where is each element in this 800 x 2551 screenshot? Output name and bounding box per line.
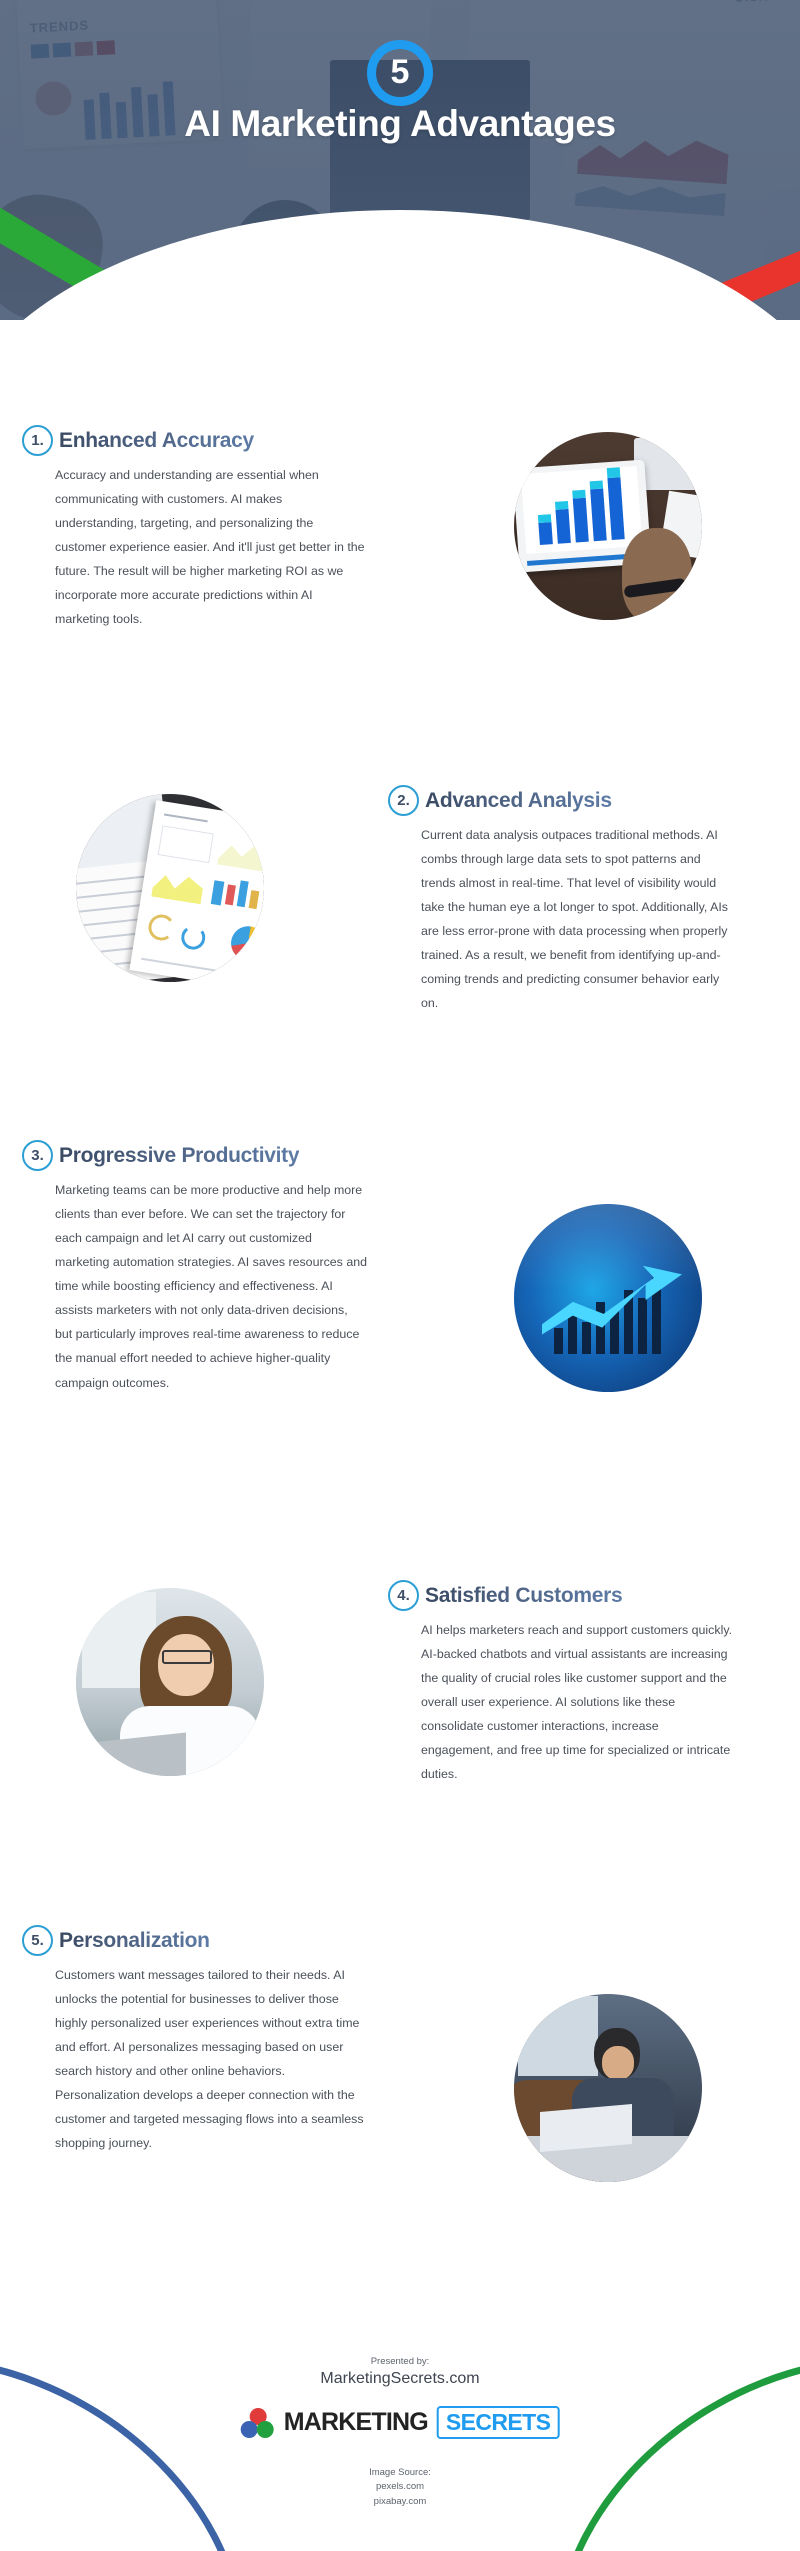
footer-website[interactable]: MarketingSecrets.com <box>0 2370 800 2388</box>
section-3-circle-frame <box>500 1190 716 1406</box>
section-2-number: 2. <box>388 785 419 816</box>
section-3-image <box>500 1190 800 1406</box>
section-4-heading: 4. Satisfied Customers <box>388 1580 733 1611</box>
photo-advanced-analysis <box>76 794 264 982</box>
section-3-title: Progressive Productivity <box>59 1144 299 1168</box>
section-3-text: 3. Progressive Productivity Marketing te… <box>22 1140 367 1395</box>
section-5-circle-frame <box>500 1980 716 2196</box>
footer-image-source-pixabay[interactable]: pixabay.com <box>0 2495 800 2509</box>
section-4-text: 4. Satisfied Customers AI helps marketer… <box>388 1580 733 1786</box>
photo-enhanced-accuracy <box>514 432 702 620</box>
section-5-text: 5. Personalization Customers want messag… <box>22 1925 367 2156</box>
logo-word-marketing: MARKETING <box>284 2408 428 2437</box>
section-5-heading: 5. Personalization <box>22 1925 367 1956</box>
section-4-number: 4. <box>388 1580 419 1611</box>
section-4-image <box>62 1574 362 1790</box>
photo-progressive-productivity <box>514 1204 702 1392</box>
logo-word-secrets: SECRETS <box>437 2406 559 2439</box>
header-banner: TRENDS ANALYSIS 5 <box>0 0 800 320</box>
section-3: 3. Progressive Productivity Marketing te… <box>0 1140 800 1500</box>
section-4-body: AI helps marketers reach and support cus… <box>421 1618 733 1786</box>
section-1-heading: 1. Enhanced Accuracy <box>22 425 367 456</box>
photo-satisfied-customers <box>76 1588 264 1776</box>
footer-image-source-pexels[interactable]: pexels.com <box>0 2480 800 2494</box>
logo-dots-icon <box>241 2408 275 2438</box>
section-5-number: 5. <box>22 1925 53 1956</box>
header-number-badge-value: 5 <box>391 55 410 89</box>
section-5-body: Customers want messages tailored to thei… <box>55 1963 367 2156</box>
section-2-image <box>62 780 362 996</box>
section-2-text: 2. Advanced Analysis Current data analys… <box>388 785 733 1016</box>
section-4: 4. Satisfied Customers AI helps marketer… <box>0 1580 800 1880</box>
footer-presented-by-label: Presented by: <box>0 2356 800 2367</box>
logo-dot-green-icon <box>257 2421 274 2438</box>
section-1-body: Accuracy and understanding are essential… <box>55 463 367 631</box>
section-1-title: Enhanced Accuracy <box>59 429 254 453</box>
section-1-number: 1. <box>22 425 53 456</box>
section-4-title: Satisfied Customers <box>425 1584 622 1608</box>
logo-dot-blue-icon <box>241 2421 258 2438</box>
section-3-number: 3. <box>22 1140 53 1171</box>
section-3-body: Marketing teams can be more productive a… <box>55 1178 367 1395</box>
section-2: 2. Advanced Analysis Current data analys… <box>0 785 800 1130</box>
footer: Presented by: MarketingSecrets.com MARKE… <box>0 2350 800 2551</box>
section-5-title: Personalization <box>59 1929 210 1953</box>
footer-image-source: Image Source: pexels.com pixabay.com <box>0 2466 800 2509</box>
section-1-text: 1. Enhanced Accuracy Accuracy and unders… <box>22 425 367 631</box>
section-5: 5. Personalization Customers want messag… <box>0 1925 800 2255</box>
section-2-title: Advanced Analysis <box>425 789 612 813</box>
section-2-circle-frame <box>62 780 278 996</box>
section-1-image <box>500 418 800 634</box>
section-2-body: Current data analysis outpaces tradition… <box>421 823 733 1016</box>
section-3-heading: 3. Progressive Productivity <box>22 1140 367 1171</box>
header-number-badge: 5 <box>367 40 433 106</box>
section-2-heading: 2. Advanced Analysis <box>388 785 733 816</box>
section-5-image <box>500 1980 800 2196</box>
section-1-circle-frame <box>500 418 716 634</box>
photo-personalization <box>514 1994 702 2182</box>
section-4-circle-frame <box>62 1574 278 1790</box>
marketing-secrets-logo[interactable]: MARKETING SECRETS <box>241 2406 560 2439</box>
page-title: AI Marketing Advantages <box>0 103 800 145</box>
section-1: 1. Enhanced Accuracy Accuracy and unders… <box>0 425 800 755</box>
footer-image-source-label: Image Source: <box>0 2466 800 2480</box>
